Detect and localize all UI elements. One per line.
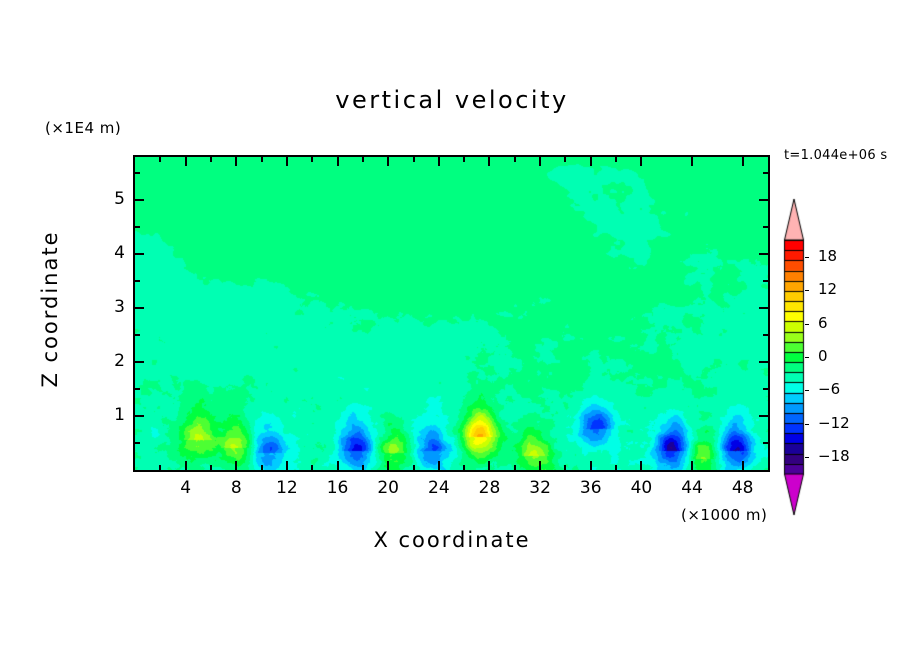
colorbar-tick-label: −18 xyxy=(818,447,850,465)
colorbar-tick-label: 6 xyxy=(818,314,828,332)
y-tick-minor xyxy=(135,442,140,444)
x-tick-minor-top xyxy=(362,157,364,162)
x-tick-major xyxy=(387,461,389,470)
plot-area xyxy=(133,155,770,472)
x-axis-unit-label: (×1000 m) xyxy=(681,506,767,524)
x-tick-major-top xyxy=(539,157,541,166)
x-tick-minor-top xyxy=(210,157,212,162)
y-tick-minor xyxy=(135,280,140,282)
colorbar-tick xyxy=(805,424,809,425)
colorbar-tick-label: −6 xyxy=(818,380,840,398)
x-tick-label: 48 xyxy=(720,478,766,498)
y-tick-minor-right xyxy=(763,334,768,336)
y-tick-major xyxy=(135,199,144,201)
colorbar-tick xyxy=(805,457,809,458)
x-tick-major-top xyxy=(286,157,288,166)
x-tick-major-top xyxy=(185,157,187,166)
x-tick-major xyxy=(742,461,744,470)
colorbar xyxy=(782,198,806,516)
x-tick-minor-top xyxy=(311,157,313,162)
y-tick-label: 5 xyxy=(101,189,125,209)
x-tick-minor-top xyxy=(564,157,566,162)
y-tick-label: 2 xyxy=(101,351,125,371)
x-tick-minor xyxy=(159,465,161,470)
x-tick-major xyxy=(185,461,187,470)
x-tick-major xyxy=(590,461,592,470)
x-tick-major xyxy=(286,461,288,470)
colorbar-tick xyxy=(805,257,809,258)
y-tick-label: 1 xyxy=(101,405,125,425)
y-tick-label: 3 xyxy=(101,297,125,317)
y-tick-major xyxy=(135,415,144,417)
y-tick-minor xyxy=(135,226,140,228)
x-tick-label: 32 xyxy=(517,478,563,498)
y-tick-minor xyxy=(135,172,140,174)
y-axis-unit-label: (×1E4 m) xyxy=(45,119,121,137)
y-tick-major xyxy=(135,253,144,255)
x-tick-major xyxy=(337,461,339,470)
colorbar-tick xyxy=(805,357,809,358)
x-tick-label: 8 xyxy=(213,478,259,498)
x-tick-minor-top xyxy=(261,157,263,162)
y-tick-label: 4 xyxy=(101,243,125,263)
x-tick-major-top xyxy=(438,157,440,166)
x-tick-minor-top xyxy=(413,157,415,162)
x-tick-major xyxy=(539,461,541,470)
x-tick-major xyxy=(488,461,490,470)
y-tick-minor xyxy=(135,334,140,336)
x-tick-label: 44 xyxy=(669,478,715,498)
contour-field-canvas xyxy=(135,157,768,470)
x-tick-major xyxy=(640,461,642,470)
colorbar-tick xyxy=(805,290,809,291)
y-tick-major xyxy=(135,307,144,309)
x-tick-label: 40 xyxy=(618,478,664,498)
x-tick-major-top xyxy=(488,157,490,166)
x-tick-label: 12 xyxy=(264,478,310,498)
x-tick-label: 20 xyxy=(365,478,411,498)
y-tick-minor-right xyxy=(763,442,768,444)
time-annotation: t=1.044e+06 s xyxy=(784,148,887,163)
x-tick-minor xyxy=(311,465,313,470)
y-axis-title: Z coordinate xyxy=(38,199,62,419)
contour-figure: vertical velocity (×1E4 m) (×1000 m) t=1… xyxy=(0,0,904,654)
x-tick-label: 36 xyxy=(568,478,614,498)
x-tick-minor xyxy=(413,465,415,470)
x-tick-major xyxy=(691,461,693,470)
y-tick-minor-right xyxy=(763,280,768,282)
x-tick-major-top xyxy=(235,157,237,166)
y-tick-major xyxy=(135,361,144,363)
colorbar-tick-label: −12 xyxy=(818,414,850,432)
colorbar-tick-label: 12 xyxy=(818,280,837,298)
x-tick-minor-top xyxy=(514,157,516,162)
y-tick-minor-right xyxy=(763,226,768,228)
x-tick-minor-top xyxy=(463,157,465,162)
x-tick-major-top xyxy=(742,157,744,166)
x-tick-minor xyxy=(210,465,212,470)
colorbar-tick-label: 18 xyxy=(818,247,837,265)
x-tick-major xyxy=(438,461,440,470)
x-tick-minor xyxy=(463,465,465,470)
x-tick-label: 4 xyxy=(163,478,209,498)
x-tick-label: 24 xyxy=(416,478,462,498)
colorbar-tick xyxy=(805,390,809,391)
x-axis-title: X coordinate xyxy=(0,528,904,552)
x-tick-major-top xyxy=(387,157,389,166)
y-tick-minor-right xyxy=(763,388,768,390)
x-tick-minor-top xyxy=(159,157,161,162)
x-tick-major-top xyxy=(590,157,592,166)
x-tick-minor-top xyxy=(615,157,617,162)
x-tick-major-top xyxy=(640,157,642,166)
colorbar-tick-label: 0 xyxy=(818,347,828,365)
y-tick-major-right xyxy=(759,415,768,417)
y-tick-major-right xyxy=(759,253,768,255)
x-tick-major-top xyxy=(691,157,693,166)
colorbar-canvas xyxy=(782,198,806,516)
page-title: vertical velocity xyxy=(0,86,904,114)
x-tick-minor xyxy=(615,465,617,470)
x-tick-minor xyxy=(514,465,516,470)
x-tick-label: 16 xyxy=(315,478,361,498)
colorbar-tick xyxy=(805,324,809,325)
x-tick-minor xyxy=(362,465,364,470)
x-tick-major-top xyxy=(337,157,339,166)
y-tick-major-right xyxy=(759,361,768,363)
y-tick-major-right xyxy=(759,199,768,201)
x-tick-major xyxy=(235,461,237,470)
y-tick-minor xyxy=(135,388,140,390)
x-tick-minor xyxy=(261,465,263,470)
y-tick-minor-right xyxy=(763,172,768,174)
y-tick-major-right xyxy=(759,307,768,309)
x-tick-label: 28 xyxy=(466,478,512,498)
x-tick-minor xyxy=(564,465,566,470)
